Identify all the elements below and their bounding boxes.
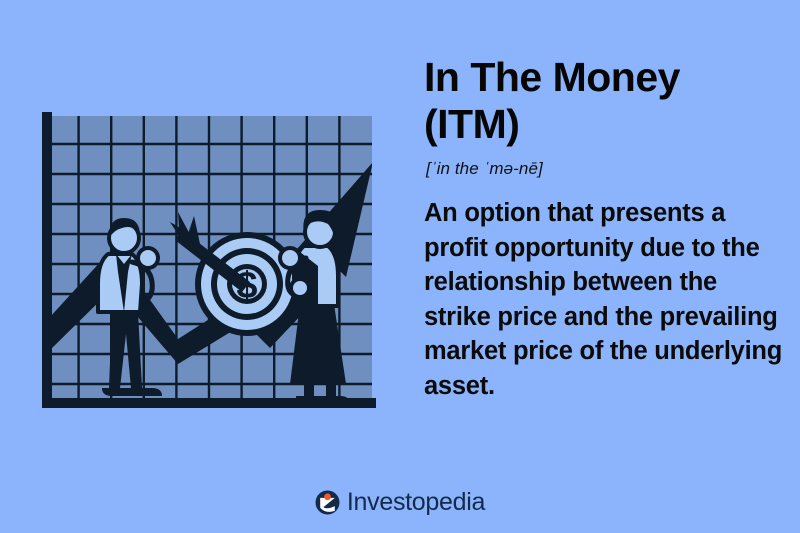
- brand-name: Investopedia: [347, 490, 485, 515]
- definition-card: $: [0, 0, 800, 533]
- pronunciation: [ˈin the ˈmə-nē]: [426, 158, 788, 180]
- brand-logo: Investopedia: [0, 490, 800, 515]
- investopedia-logo-icon: [315, 490, 340, 515]
- definition-text: An option that presents a profit opportu…: [424, 196, 788, 403]
- page-title: In The Money (ITM): [424, 54, 788, 148]
- illustration: $: [28, 112, 388, 432]
- text-column: In The Money (ITM) [ˈin the ˈmə-nē] An o…: [424, 54, 788, 403]
